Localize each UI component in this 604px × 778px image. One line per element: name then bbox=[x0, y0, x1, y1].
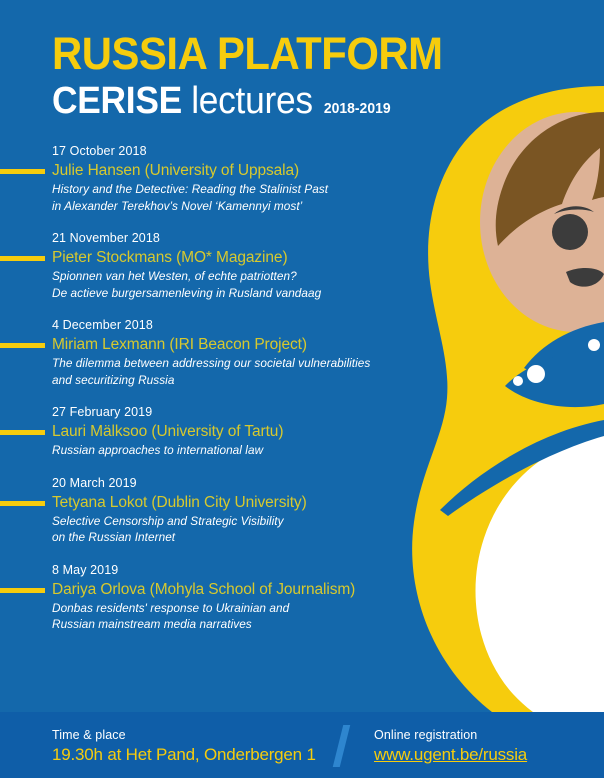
poster-footer: Time & place 19.30h at Het Pand, Onderbe… bbox=[0, 712, 604, 778]
lecture-description-line: Spionnen van het Westen, of echte patrio… bbox=[52, 268, 420, 285]
bullet-dash-icon bbox=[0, 343, 45, 348]
page-title: RUSSIA PLATFORM bbox=[52, 30, 443, 78]
time-place-label: Time & place bbox=[52, 727, 316, 743]
footer-registration-block: Online registration www.ugent.be/russia bbox=[374, 727, 527, 767]
lecture-description-line: Russian mainstream media narratives bbox=[52, 616, 420, 633]
subtitle-row: CERISE lectures 2018-2019 bbox=[52, 80, 443, 122]
lecture-date: 17 October 2018 bbox=[52, 143, 420, 160]
doll-collar bbox=[524, 322, 604, 386]
lecture-speaker: Tetyana Lokot (Dublin City University) bbox=[52, 492, 420, 513]
lecture-description-line: De actieve burgersamenleving in Rusland … bbox=[52, 285, 420, 302]
lecture-description-line: Russian approaches to international law bbox=[52, 442, 420, 459]
lecture-speaker: Dariya Orlova (Mohyla School of Journali… bbox=[52, 579, 420, 600]
doll-dot-1 bbox=[527, 365, 545, 383]
bullet-dash-icon bbox=[0, 430, 45, 435]
subtitle-years: 2018-2019 bbox=[324, 100, 391, 117]
poster-canvas: RUSSIA PLATFORM CERISE lectures 2018-201… bbox=[0, 0, 604, 778]
lecture-speaker-row: Dariya Orlova (Mohyla School of Journali… bbox=[0, 579, 420, 600]
lecture-speaker: Miriam Lexmann (IRI Beacon Project) bbox=[52, 334, 420, 355]
lecture-speaker-row: Tetyana Lokot (Dublin City University) bbox=[0, 492, 420, 513]
doll-eyebrow bbox=[554, 206, 594, 214]
lecture-description-line: The dilemma between addressing our socie… bbox=[52, 355, 420, 372]
lecture-date: 4 December 2018 bbox=[52, 317, 420, 334]
lecture-list: 17 October 2018Julie Hansen (University … bbox=[0, 143, 420, 649]
lecture-item: 17 October 2018Julie Hansen (University … bbox=[0, 143, 420, 214]
doll-hair bbox=[496, 112, 604, 246]
lecture-date: 8 May 2019 bbox=[52, 562, 420, 579]
lecture-item: 27 February 2019Lauri Mälksoo (Universit… bbox=[0, 404, 420, 459]
lecture-description-line: on the Russian Internet bbox=[52, 529, 420, 546]
registration-label: Online registration bbox=[374, 727, 527, 743]
lecture-speaker-row: Lauri Mälksoo (University of Tartu) bbox=[0, 421, 420, 442]
footer-time-place-block: Time & place 19.30h at Het Pand, Onderbe… bbox=[52, 727, 316, 767]
doll-scarf-body-shape bbox=[412, 86, 604, 753]
lecture-description-line: and securitizing Russia bbox=[52, 372, 420, 389]
subtitle-lectures: lectures bbox=[191, 80, 313, 122]
lecture-description-line: Donbas residents' response to Ukrainian … bbox=[52, 600, 420, 617]
lecture-item: 4 December 2018Miriam Lexmann (IRI Beaco… bbox=[0, 317, 420, 388]
footer-divider-slash bbox=[333, 725, 350, 767]
lecture-speaker: Pieter Stockmans (MO* Magazine) bbox=[52, 247, 420, 268]
doll-mouth bbox=[566, 268, 604, 287]
lecture-date: 21 November 2018 bbox=[52, 230, 420, 247]
lecture-description-line: Selective Censorship and Strategic Visib… bbox=[52, 513, 420, 530]
doll-dot-2 bbox=[513, 376, 523, 386]
lecture-speaker-row: Miriam Lexmann (IRI Beacon Project) bbox=[0, 334, 420, 355]
lecture-date: 27 February 2019 bbox=[52, 404, 420, 421]
lecture-description-line: History and the Detective: Reading the S… bbox=[52, 181, 420, 198]
doll-apron bbox=[475, 436, 604, 741]
doll-eye bbox=[552, 214, 588, 250]
lecture-speaker: Lauri Mälksoo (University of Tartu) bbox=[52, 421, 420, 442]
lecture-speaker: Julie Hansen (University of Uppsala) bbox=[52, 160, 420, 181]
lecture-description-line: in Alexander Terekhov’s Novel ‘Kamennyi … bbox=[52, 198, 420, 215]
registration-url-link[interactable]: www.ugent.be/russia bbox=[374, 743, 527, 767]
bullet-dash-icon bbox=[0, 588, 45, 593]
bullet-dash-icon bbox=[0, 169, 45, 174]
lecture-speaker-row: Julie Hansen (University of Uppsala) bbox=[0, 160, 420, 181]
lecture-item: 20 March 2019Tetyana Lokot (Dublin City … bbox=[0, 475, 420, 546]
doll-face bbox=[480, 112, 604, 332]
time-place-value: 19.30h at Het Pand, Onderbergen 1 bbox=[52, 743, 316, 767]
lecture-item: 8 May 2019Dariya Orlova (Mohyla School o… bbox=[0, 562, 420, 633]
bullet-dash-icon bbox=[0, 256, 45, 261]
lecture-item: 21 November 2018Pieter Stockmans (MO* Ma… bbox=[0, 230, 420, 301]
doll-swoosh bbox=[440, 420, 604, 516]
doll-dot-3 bbox=[588, 339, 600, 351]
lecture-speaker-row: Pieter Stockmans (MO* Magazine) bbox=[0, 247, 420, 268]
bullet-dash-icon bbox=[0, 501, 45, 506]
subtitle-cerise: CERISE bbox=[52, 80, 182, 122]
poster-header: RUSSIA PLATFORM CERISE lectures 2018-201… bbox=[52, 30, 472, 122]
lecture-date: 20 March 2019 bbox=[52, 475, 420, 492]
doll-leaf-upper bbox=[505, 351, 604, 407]
